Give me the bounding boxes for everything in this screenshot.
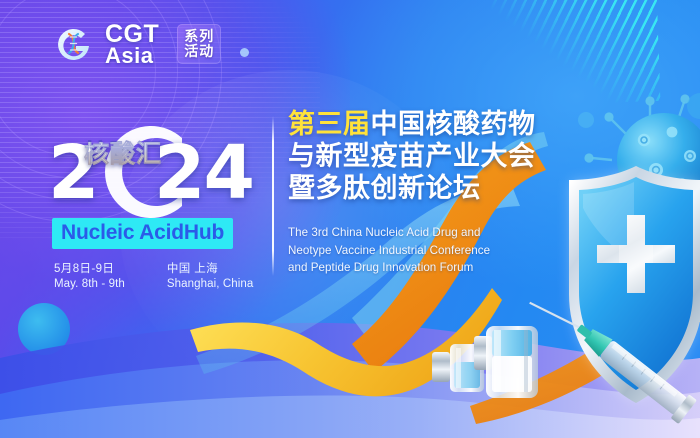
title-highlight: 第三届	[288, 109, 371, 139]
event-date-en: May. 8th - 9th	[54, 277, 125, 292]
event-location: 中国 上海 Shanghai, China	[167, 262, 254, 292]
title-line-3: 暨多肽创新论坛	[288, 172, 556, 204]
year-suffix: 24	[154, 136, 253, 210]
cgt-dna-globe-icon	[52, 22, 96, 66]
logo-asia-text: Asia	[105, 46, 159, 65]
year-digits: 2 24 核酸汇	[50, 118, 250, 216]
title-line-1: 第三届中国核酸药物	[288, 108, 556, 140]
subtitle-line-3: and Peptide Drug Innovation Forum	[288, 259, 550, 277]
page-title: 第三届中国核酸药物 与新型疫苗产业大会 暨多肽创新论坛	[288, 108, 556, 204]
nucleic-acid-hub-cn-text: 核酸汇	[84, 142, 162, 167]
event-meta-row: 5月8日-9日 May. 8th - 9th 中国 上海 Shanghai, C…	[54, 262, 253, 292]
event-location-cn: 中国 上海	[167, 262, 254, 277]
cgt-asia-logo: CGT Asia 系列 活动	[52, 22, 221, 66]
subtitle-line-2: Neotype Vaccine Industrial Conference	[288, 242, 550, 260]
event-date-cn: 5月8日-9日	[54, 262, 125, 277]
year-logotype-block: 2 24 核酸汇 Nucleic AcidHub	[50, 118, 250, 253]
logo-wordmark: CGT Asia	[105, 23, 159, 65]
event-location-en: Shanghai, China	[167, 277, 254, 292]
page-subtitle: The 3rd China Nucleic Acid Drug and Neot…	[288, 224, 550, 277]
badge-line-1: 系列	[184, 29, 214, 43]
nucleic-acid-hub-banner: Nucleic AcidHub	[52, 218, 233, 249]
vertical-divider	[272, 116, 274, 276]
series-event-badge: 系列 活动	[177, 24, 221, 64]
badge-line-2: 活动	[184, 44, 214, 58]
conference-poster: CGT Asia 系列 活动 2 24 核酸汇 Nucleic AcidHub …	[0, 0, 700, 438]
title-line-1-rest: 中国核酸药物	[371, 109, 536, 139]
event-date: 5月8日-9日 May. 8th - 9th	[54, 262, 125, 292]
nucleic-acid-hub-label: Nucleic AcidHub	[61, 221, 224, 244]
subtitle-line-1: The 3rd China Nucleic Acid Drug and	[288, 224, 550, 242]
title-line-2: 与新型疫苗产业大会	[288, 140, 556, 172]
logo-cgt-text: CGT	[105, 23, 159, 45]
